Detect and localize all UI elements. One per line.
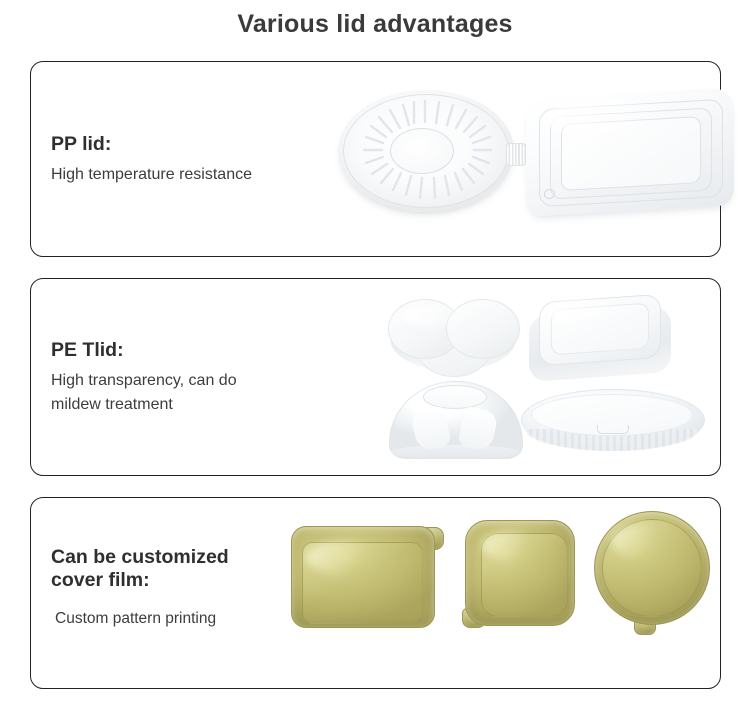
gold-round-inner-panel	[602, 519, 702, 617]
panel-pe-t-lid-text-block: PE Tlid: High transparency, can do milde…	[51, 339, 301, 417]
dome-lid-top-circle	[423, 385, 487, 409]
dome-clear-lid-image	[389, 381, 525, 463]
round-pp-lid-image	[338, 90, 518, 215]
panel-pe-t-lid-heading: PE Tlid:	[51, 339, 301, 362]
gold-round-body	[594, 511, 710, 625]
panel-custom-cover-film: Can be customized cover film: Custom pat…	[30, 497, 721, 689]
panel-pp-lid-description: High temperature resistance	[51, 163, 321, 187]
heart-lid-highlight	[402, 305, 462, 327]
panel-pp-lid-products	[321, 62, 720, 256]
heart-lid-right-lobe	[446, 299, 520, 359]
rectangular-pp-lid-image	[526, 87, 741, 222]
panel-pe-t-lid: PE Tlid: High transparency, can do milde…	[30, 278, 721, 476]
panel-pe-t-lid-products	[331, 279, 720, 475]
panel-pp-lid: PP lid: High temperature resistance	[30, 61, 721, 257]
gold-foil-square-cover-image	[461, 518, 585, 638]
gold-rect-inner-panel	[302, 542, 423, 624]
square-clear-lid-image	[529, 293, 674, 383]
dome-lid-rim	[391, 445, 519, 459]
gold-foil-round-cover-image	[594, 511, 719, 641]
gold-rect-body	[291, 526, 435, 628]
heart-shaped-clear-lid-image	[386, 295, 522, 383]
panel-pp-lid-text-block: PP lid: High temperature resistance	[51, 133, 321, 187]
round-lid-center-oval	[390, 128, 454, 174]
gold-square-body	[465, 520, 575, 626]
oval-lid-notch	[597, 425, 629, 434]
panel-pp-lid-heading: PP lid:	[51, 133, 321, 156]
panel-pe-t-lid-description: High transparency, can do mildew treatme…	[51, 369, 301, 418]
panel-custom-cover-film-products	[246, 498, 720, 688]
gold-square-inner-panel	[481, 533, 568, 617]
page-title: Various lid advantages	[0, 10, 750, 39]
oval-clear-lid-image	[521, 389, 706, 459]
gold-foil-rectangular-cover-image	[291, 520, 439, 630]
